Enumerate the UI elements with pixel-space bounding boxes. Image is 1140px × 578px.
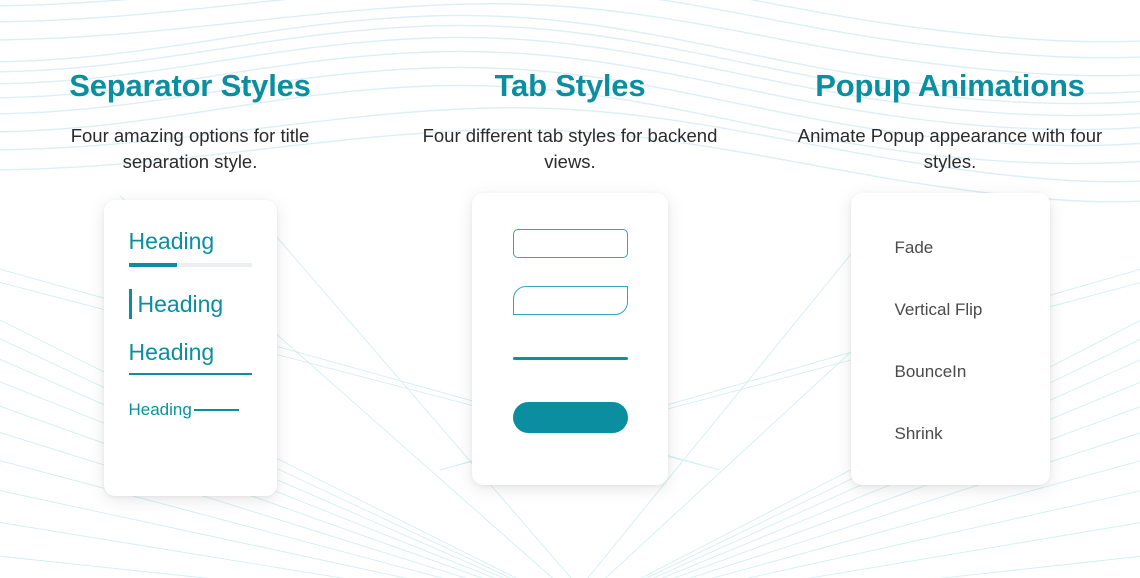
column-title-popup-animations: Popup Animations — [815, 70, 1084, 103]
feature-showcase-banner: Separator Styles Four amazing options fo… — [0, 0, 1140, 578]
column-title-separator-styles: Separator Styles — [69, 70, 310, 103]
column-subtitle-popup-animations: Animate Popup appearance with four style… — [795, 123, 1105, 177]
popup-animation-option-vertical-flip[interactable]: Vertical Flip — [895, 301, 1050, 318]
column-separator-styles: Separator Styles Four amazing options fo… — [0, 0, 380, 578]
popup-animations-preview-card: Fade Vertical Flip BounceIn Shrink — [851, 193, 1050, 485]
separator-option-left-vertical-bar[interactable]: Heading — [104, 289, 277, 319]
separator-heading-label: Heading — [129, 341, 215, 364]
separator-heading-label: Heading — [129, 401, 192, 418]
popup-animation-option-bouncein[interactable]: BounceIn — [895, 363, 1050, 380]
separator-rule-full — [129, 373, 252, 375]
separator-rule-trailing-dash — [194, 409, 239, 411]
column-subtitle-tab-styles: Four different tab styles for backend vi… — [415, 123, 725, 177]
column-title-tab-styles: Tab Styles — [495, 70, 646, 103]
tab-styles-preview-card — [472, 193, 668, 485]
popup-animation-option-shrink[interactable]: Shrink — [895, 425, 1050, 442]
popup-animation-option-fade[interactable]: Fade — [895, 239, 1050, 256]
separator-heading-label: Heading — [129, 230, 215, 253]
columns-container: Separator Styles Four amazing options fo… — [0, 0, 1140, 578]
tab-option-outlined-diagonal-rounded[interactable] — [513, 286, 628, 315]
separator-option-inline-trailing-dash[interactable]: Heading — [104, 401, 277, 418]
separator-heading-label: Heading — [138, 289, 224, 319]
tab-option-underline-bar[interactable] — [513, 357, 628, 360]
separator-option-full-underline[interactable]: Heading — [104, 341, 277, 375]
column-tab-styles: Tab Styles Four different tab styles for… — [380, 0, 760, 578]
separator-styles-preview-card: Heading Heading Heading Heading — [104, 200, 277, 496]
separator-rule-vertical-bar — [129, 289, 132, 319]
tab-option-filled-pill[interactable] — [513, 402, 628, 433]
separator-option-partial-underline[interactable]: Heading — [104, 230, 277, 267]
column-subtitle-separator-styles: Four amazing options for title separatio… — [35, 123, 345, 177]
separator-rule-partial — [129, 263, 252, 267]
tab-option-outlined-rounded-rect[interactable] — [513, 229, 628, 258]
column-popup-animations: Popup Animations Animate Popup appearanc… — [760, 0, 1140, 578]
